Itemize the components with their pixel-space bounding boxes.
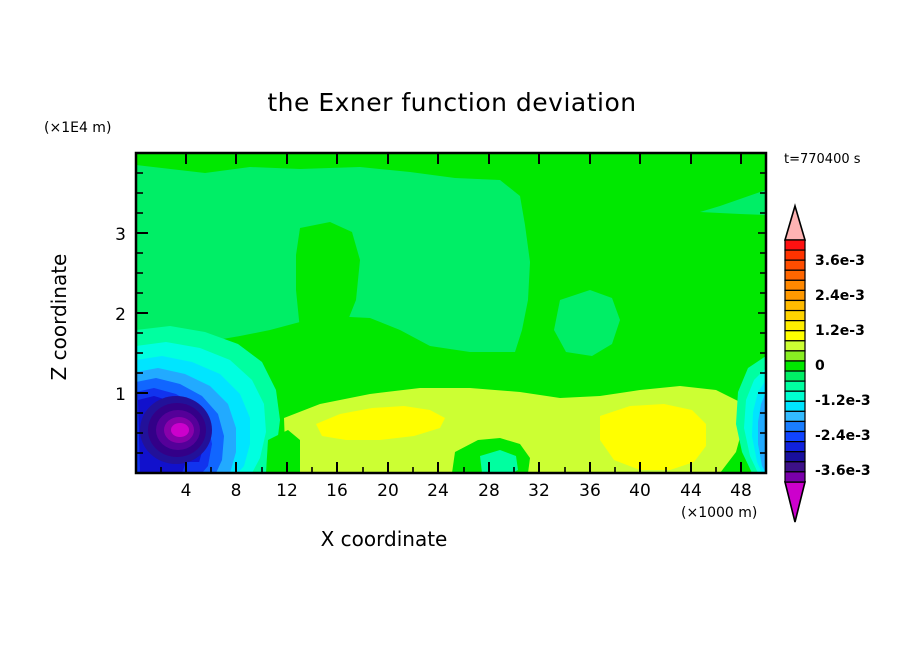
colorbar[interactable]: 3.6e-3 2.4e-3 1.2e-3 0 -1.2e-3 -2.4e-3 -…	[785, 206, 871, 522]
x-tick-label: 20	[377, 481, 399, 501]
colorbar-tick-label: 0	[815, 358, 825, 374]
colorbar-tick-label: -2.4e-3	[815, 428, 871, 444]
colorbar-cap-bottom	[785, 482, 805, 522]
figure-canvas: the Exner function deviation (×1E4 m) t=…	[0, 0, 904, 654]
x-tick-label: 8	[231, 481, 242, 501]
x-tick-label: 12	[276, 481, 298, 501]
contour-field	[136, 153, 766, 473]
y-tick-label: 2	[115, 305, 126, 325]
x-tick-label: 28	[478, 481, 500, 501]
colorbar-cap-top	[785, 206, 805, 240]
x-tick-label: 40	[629, 481, 651, 501]
y-tick-label: 3	[115, 225, 126, 245]
x-tick-label: 24	[427, 481, 449, 501]
x-tick-label: 36	[579, 481, 601, 501]
x-tick-label: 32	[528, 481, 550, 501]
x-tick-label: 48	[730, 481, 752, 501]
colorbar-tick-label: -3.6e-3	[815, 463, 871, 479]
colorbar-tick-label: -1.2e-3	[815, 393, 871, 409]
x-tick-label: 4	[181, 481, 192, 501]
y-tick-label: 1	[115, 385, 126, 405]
contour-band-core-magenta	[171, 423, 189, 437]
colorbar-tick-label: 3.6e-3	[815, 253, 865, 269]
contour-plot: 4 8 12 16 20 24 28 32 36 40 44 48	[0, 0, 904, 654]
colorbar-swatches	[785, 240, 805, 482]
x-tick-label: 16	[326, 481, 348, 501]
x-tick-label: 44	[680, 481, 702, 501]
colorbar-tick-label: 1.2e-3	[815, 323, 865, 339]
colorbar-tick-label: 2.4e-3	[815, 288, 865, 304]
contour-band-p12-right	[600, 404, 706, 470]
